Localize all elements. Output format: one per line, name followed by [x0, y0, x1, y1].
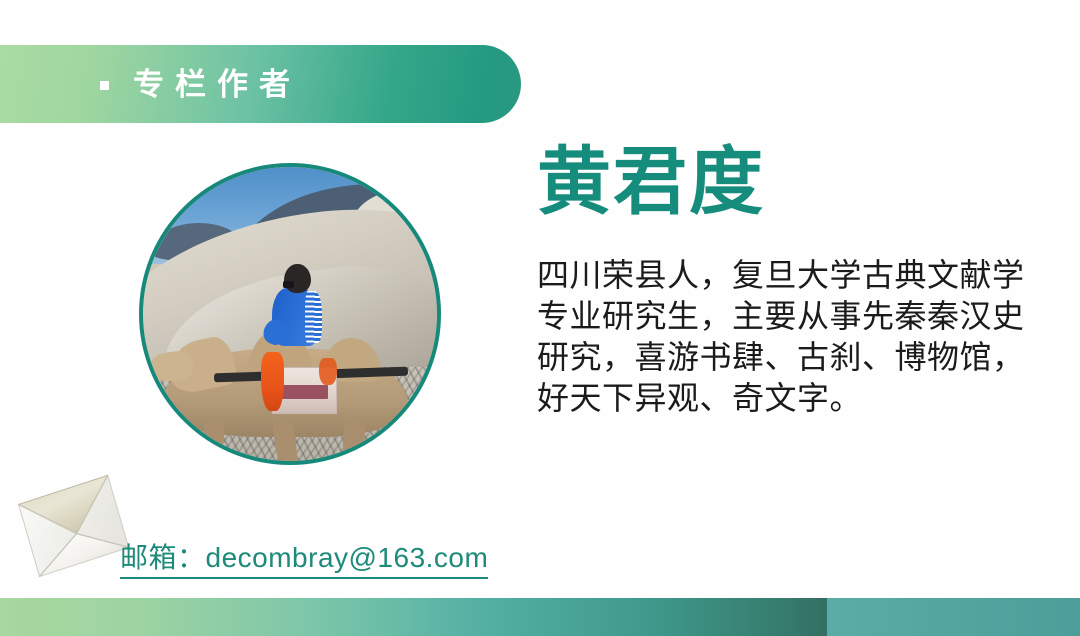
- photo-camel-leg: [341, 419, 365, 461]
- photo-saddle-number-tag: [278, 385, 328, 400]
- banner-content: 专栏作者: [100, 45, 301, 123]
- section-header-banner: 专栏作者: [0, 45, 521, 123]
- photo-rider-leg: [261, 352, 285, 411]
- photo-rider-sunglasses: [283, 281, 295, 287]
- envelope-icon: [14, 468, 132, 590]
- photo-rider-head: [284, 264, 310, 293]
- author-profile-card: 专栏作者: [0, 0, 1080, 636]
- author-name: 黄君度: [537, 145, 765, 219]
- footer-bar-left: [0, 598, 827, 636]
- photo-camel-leg: [199, 419, 224, 461]
- author-bio: 四川荣县人，复旦大学古典文献学专业研究生，主要从事先秦秦汉史研究，喜游书肆、古刹…: [537, 255, 1047, 419]
- photo-rider-leg-far: [319, 358, 337, 384]
- avatar-photo: [143, 167, 437, 461]
- email-link[interactable]: 邮箱：decombray@163.com: [120, 542, 488, 579]
- banner-title: 专栏作者: [131, 69, 301, 100]
- square-bullet-icon: [100, 81, 109, 90]
- footer-bar-right: [827, 598, 1080, 636]
- photo-rider-jacket-stripe: [305, 291, 323, 344]
- avatar: [139, 163, 441, 465]
